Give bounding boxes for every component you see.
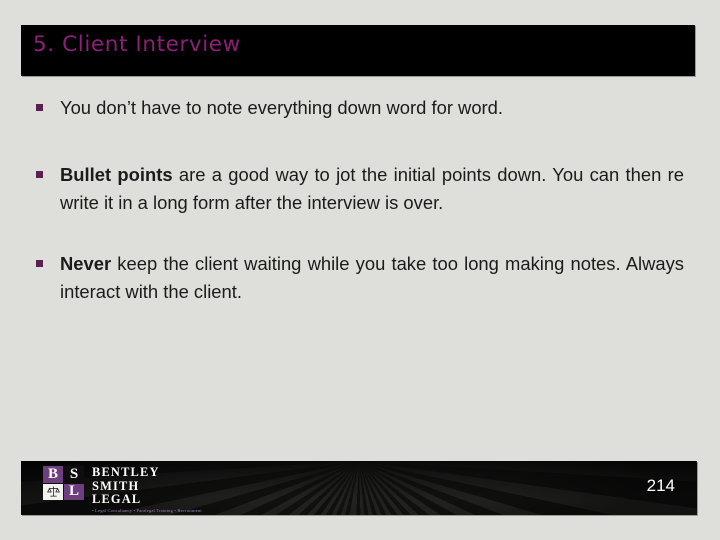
square-bullet-icon [36, 171, 43, 178]
logo-tagline: • Legal Consultancy • Paralegal Training… [92, 508, 202, 513]
spacer [36, 216, 684, 250]
list-item: Bullet points are a good way to jot the … [36, 161, 684, 216]
logo-mark: B S L [43, 466, 84, 500]
footer-bar: B S L BENTLEY [21, 461, 697, 515]
slide: 5. Client Interview You don’t have to no… [0, 0, 720, 540]
title-bar: 5. Client Interview [21, 25, 695, 76]
logo-wordmark: BENTLEY SMITH LEGAL • Legal Consultancy … [92, 466, 202, 513]
company-logo: B S L BENTLEY [43, 466, 202, 513]
logo-name-line-1: BENTLEY [92, 466, 202, 480]
logo-letter-l: L [64, 484, 84, 501]
logo-name-line-2: SMITH [92, 480, 202, 494]
scales-of-justice-icon [43, 484, 63, 501]
square-bullet-icon [36, 104, 43, 111]
bullet-rest-3: keep the client waiting while you take t… [60, 253, 684, 301]
bullet-text-3: Never keep the client waiting while you … [60, 250, 684, 305]
square-bullet-icon [36, 260, 43, 267]
bullet-text-1: You don’t have to note everything down w… [60, 94, 684, 121]
list-item: Never keep the client waiting while you … [36, 250, 684, 305]
logo-letter-s: S [64, 466, 84, 483]
bullet-text-2: Bullet points are a good way to jot the … [60, 161, 684, 216]
page-title: 5. Client Interview [33, 32, 241, 57]
bullet-lead-3: Never [60, 253, 111, 274]
page-number: 214 [647, 476, 675, 496]
bullet-lead-2: Bullet points [60, 164, 173, 185]
logo-name-line-3: LEGAL [92, 493, 202, 507]
spacer [36, 121, 684, 161]
list-item: You don’t have to note everything down w… [36, 94, 684, 121]
content-body: You don’t have to note everything down w… [36, 94, 684, 305]
logo-letter-b: B [43, 466, 63, 483]
